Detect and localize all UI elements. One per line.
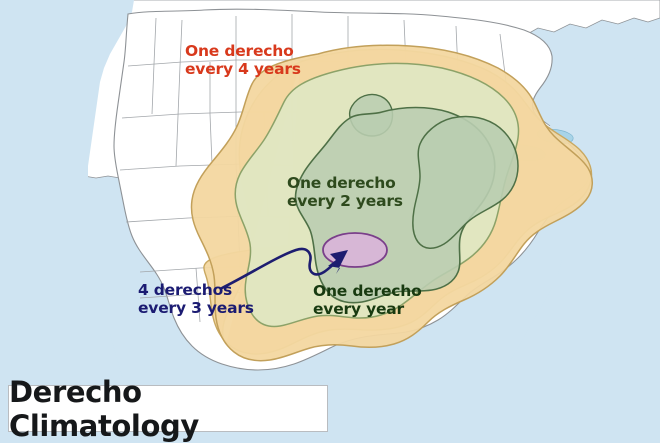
label-4-derechos-every-3-years: 4 derechos every 3 years [138, 281, 254, 318]
page-title: Derecho Climatology [9, 375, 327, 443]
label-one-derecho-every-4-years: One derecho every 4 years [185, 42, 301, 79]
label-one-derecho-every-2-years: One derecho every 2 years [287, 174, 403, 211]
region-4-derechos-3-years-core [323, 233, 387, 267]
title-banner: Derecho Climatology [8, 385, 328, 432]
label-one-derecho-every-year: One derecho every year [313, 282, 422, 319]
derecho-climatology-map: One derecho every 4 years One derecho ev… [0, 0, 660, 440]
